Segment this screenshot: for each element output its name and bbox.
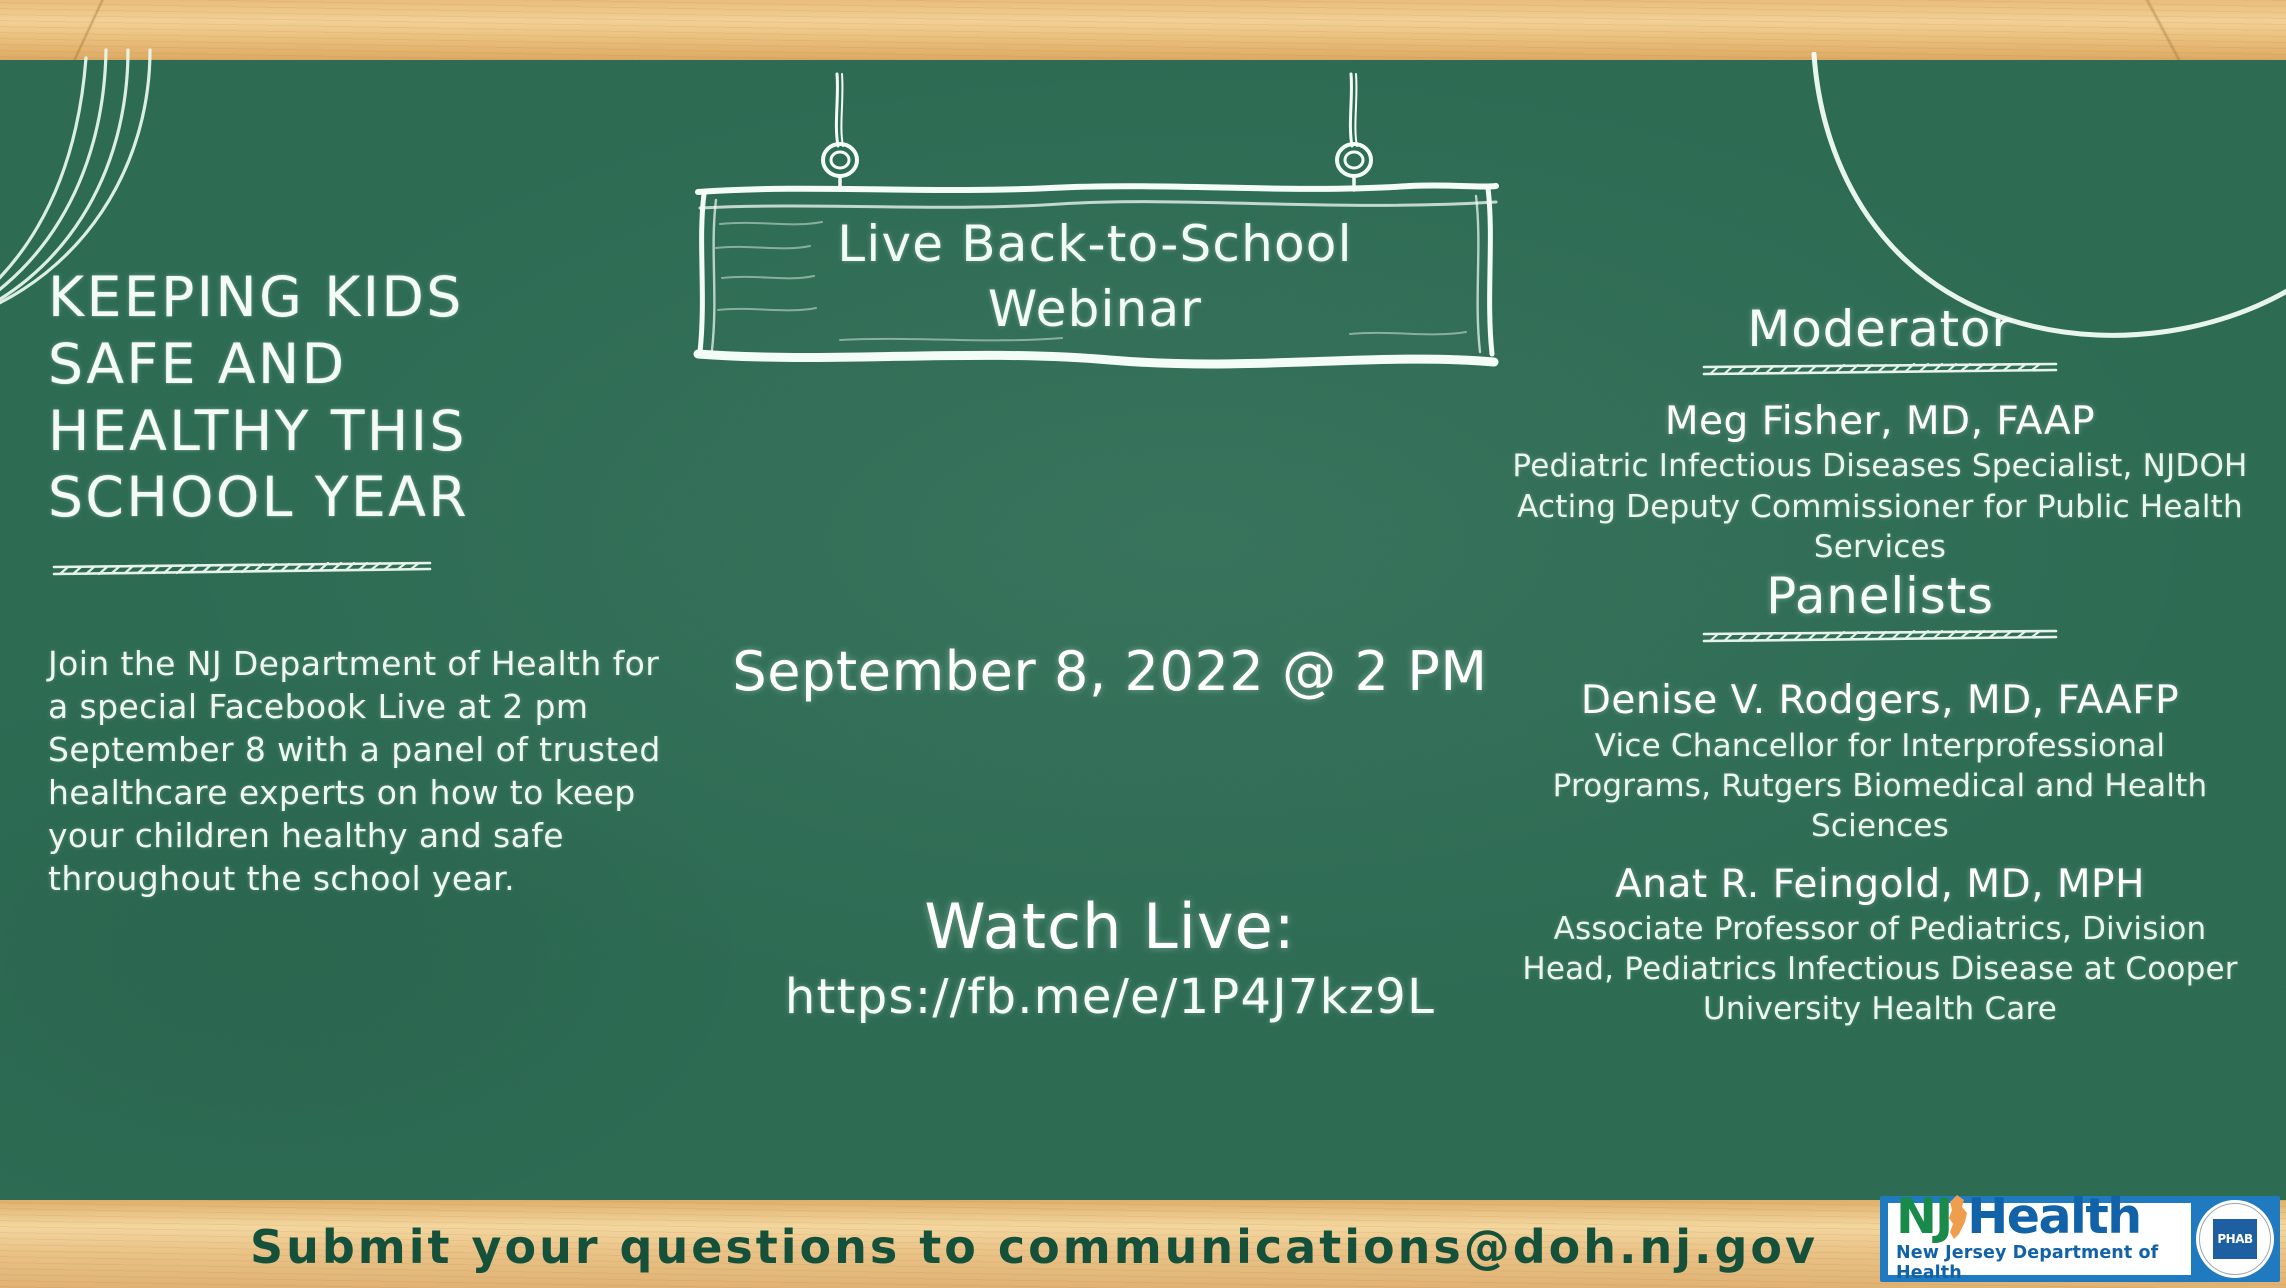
panelist-role: Associate Professor of Pediatrics, Divis…: [1500, 909, 2260, 1030]
panelist-person: Denise V. Rodgers, MD, FAAFP Vice Chance…: [1500, 677, 2260, 846]
phab-seal-icon: PHAB: [2196, 1200, 2274, 1278]
sign-line-2: Webinar: [690, 277, 1500, 342]
moderator-divider: [1702, 362, 2058, 380]
panelist-role-line-1: Vice Chancellor for Interprofessional: [1500, 726, 2260, 766]
panelist-role-line-3: Sciences: [1500, 806, 2260, 846]
sign-line-1: Live Back-to-School: [690, 212, 1500, 277]
description-line-3: September 8 with a panel of trusted: [48, 729, 668, 772]
event-datetime: September 8, 2022 @ 2 PM: [640, 640, 1580, 703]
panelist-role-line-1: Associate Professor of Pediatrics, Divis…: [1500, 909, 2260, 949]
description-line-5: your children healthy and safe: [48, 815, 668, 858]
moderator-name: Meg Fisher, MD, FAAP: [1500, 398, 2260, 446]
panelist-role: Vice Chancellor for Interprofessional Pr…: [1500, 726, 2260, 847]
moderator-role: Pediatric Infectious Diseases Specialist…: [1500, 446, 2260, 567]
sign-text: Live Back-to-School Webinar: [690, 212, 1500, 342]
headline-line-4: SCHOOL YEAR: [48, 464, 668, 531]
panelists-divider: [1702, 629, 2058, 647]
speakers-column: Moderator: [1500, 300, 2260, 1030]
page-title: KEEPING KIDS SAFE AND HEALTHY THIS SCHOO…: [48, 264, 668, 531]
panelist-name: Denise V. Rodgers, MD, FAAFP: [1500, 677, 2260, 725]
event-description: Join the NJ Department of Health for a s…: [48, 643, 668, 900]
logo-subtitle: New Jersey Department of Health: [1896, 1243, 2183, 1283]
watch-live-block: Watch Live: https://fb.me/e/1P4J7kz9L: [640, 890, 1580, 1025]
watch-live-label: Watch Live:: [640, 890, 1580, 963]
headline-divider: [52, 561, 432, 581]
left-column: KEEPING KIDS SAFE AND HEALTHY THIS SCHOO…: [48, 264, 668, 901]
moderator-person: Meg Fisher, MD, FAAP Pediatric Infectiou…: [1500, 398, 2260, 567]
hanging-sign: Live Back-to-School Webinar: [690, 72, 1500, 402]
panelists-heading: Panelists: [1500, 567, 2260, 625]
moderator-role-line-2: Acting Deputy Commissioner for Public He…: [1500, 487, 2260, 527]
description-line-1: Join the NJ Department of Health for: [48, 643, 668, 686]
headline-line-3: HEALTHY THIS: [48, 398, 668, 465]
panelist-name: Anat R. Feingold, MD, MPH: [1500, 861, 2260, 909]
moderator-heading: Moderator: [1500, 300, 2260, 358]
description-line-4: healthcare experts on how to keep: [48, 772, 668, 815]
panelist-role-line-2: Head, Pediatrics Infectious Disease at C…: [1500, 949, 2260, 989]
nj-health-logo: NJ Health New Jersey Department of Healt…: [1880, 1196, 2280, 1282]
headline-line-1: KEEPING KIDS: [48, 264, 668, 331]
headline-line-2: SAFE AND: [48, 331, 668, 398]
description-line-6: throughout the school year.: [48, 858, 668, 901]
moderator-role-line-3: Services: [1500, 527, 2260, 567]
new-jersey-state-icon: [1945, 1194, 1971, 1240]
poster-root: KEEPING KIDS SAFE AND HEALTHY THIS SCHOO…: [0, 0, 2286, 1288]
logo-nj-text: NJ: [1896, 1194, 1951, 1239]
description-line-2: a special Facebook Live at 2 pm: [48, 686, 668, 729]
wood-frame-top: [0, 0, 2286, 60]
submit-questions-text: Submit your questions to communications@…: [250, 1220, 1818, 1274]
watch-live-url[interactable]: https://fb.me/e/1P4J7kz9L: [640, 969, 1580, 1025]
panelist-person: Anat R. Feingold, MD, MPH Associate Prof…: [1500, 861, 2260, 1030]
nj-health-logo-wordmark: NJ Health: [1896, 1194, 2183, 1240]
logo-health-text: Health: [1967, 1194, 2140, 1239]
panelist-role-line-2: Programs, Rutgers Biomedical and Health: [1500, 766, 2260, 806]
panelist-role-line-3: University Health Care: [1500, 989, 2260, 1029]
nj-health-logo-card: NJ Health New Jersey Department of Healt…: [1886, 1201, 2193, 1277]
moderator-role-line-1: Pediatric Infectious Diseases Specialist…: [1500, 446, 2260, 486]
